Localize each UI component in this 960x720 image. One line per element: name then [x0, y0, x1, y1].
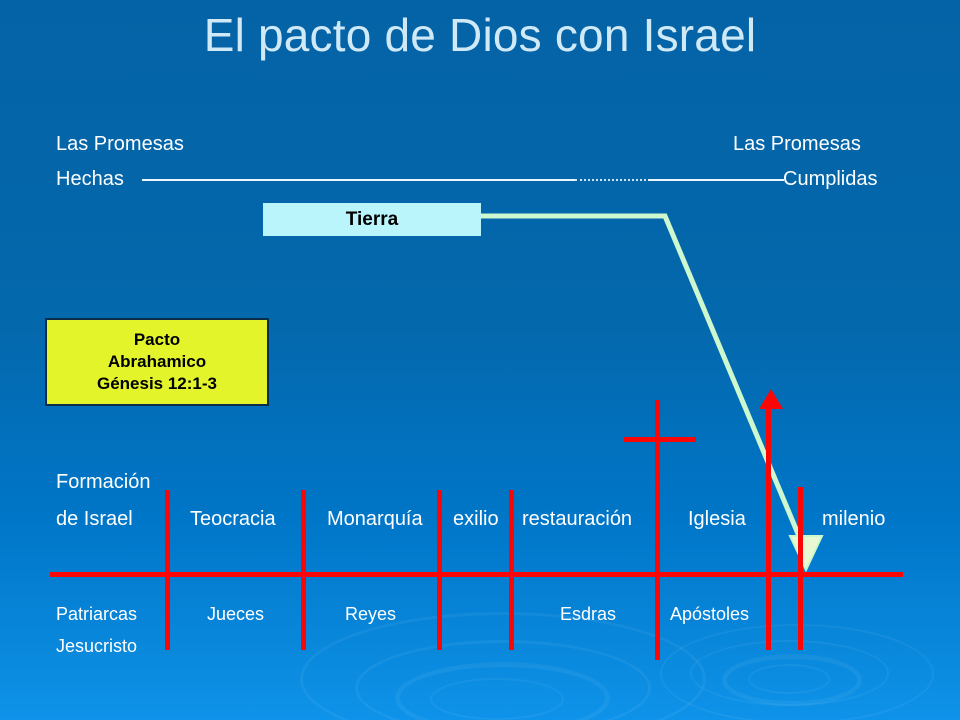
timeline-divider [165, 490, 170, 650]
figure-label-apostoles: Apóstoles [670, 600, 749, 628]
slide-canvas: El pacto de Dios con Israel Las Promesas… [0, 0, 960, 720]
timeline-divider [301, 490, 306, 650]
promise-connector-dashed [575, 179, 650, 181]
figure-label-reyes: Reyes [345, 600, 396, 628]
tierra-box[interactable]: Tierra [263, 203, 481, 236]
tierra-label: Tierra [346, 209, 398, 231]
pacto-line3: Génesis 12:1-3 [97, 373, 217, 395]
period-label-formacion-line2: de Israel [56, 505, 133, 533]
water-ripple-decoration [355, 640, 651, 720]
promises-made-line2: Hechas [56, 165, 124, 193]
timeline-divider [437, 490, 442, 650]
cross-marker-crossbar [624, 437, 696, 442]
figure-label-esdras: Esdras [560, 600, 616, 628]
page-title: El pacto de Dios con Israel [0, 6, 960, 64]
period-label-monarquia: Monarquía [327, 505, 423, 533]
period-label-teocracia: Teocracia [190, 505, 276, 533]
figure-label-jueces: Jueces [207, 600, 264, 628]
timeline-divider [509, 490, 514, 650]
pacto-abrahamico-box[interactable]: Pacto Abrahamico Génesis 12:1-3 [45, 318, 269, 406]
promises-fulfilled-line1: Las Promesas [733, 130, 861, 158]
period-label-iglesia: Iglesia [688, 505, 746, 533]
period-label-formacion-line1: Formación [56, 468, 150, 496]
period-label-exilio: exilio [453, 505, 499, 533]
timeline-divider [798, 487, 803, 650]
pacto-line1: Pacto [134, 329, 180, 351]
water-ripple-decoration [690, 640, 889, 706]
figure-label-jesucristo: Jesucristo [56, 632, 137, 660]
water-ripple-decoration [660, 624, 934, 720]
period-label-milenio: milenio [822, 505, 885, 533]
promise-connector-left [142, 179, 575, 181]
water-ripple-decoration [300, 612, 706, 720]
resurrection-arrow-shaft [766, 405, 771, 650]
promises-fulfilled-line2: Cumplidas [783, 165, 877, 193]
promises-made-line1: Las Promesas [56, 130, 184, 158]
water-ripple-decoration [722, 654, 862, 706]
timeline-axis [50, 572, 903, 577]
resurrection-arrow-head [759, 389, 783, 409]
pacto-line2: Abrahamico [108, 351, 206, 373]
period-label-restauracion: restauración [522, 505, 632, 533]
water-ripple-decoration [395, 662, 610, 720]
promise-connector-right [648, 179, 784, 181]
water-ripple-decoration [430, 678, 564, 720]
figure-label-patriarcas: Patriarcas [56, 600, 137, 628]
water-ripple-decoration [748, 664, 830, 694]
